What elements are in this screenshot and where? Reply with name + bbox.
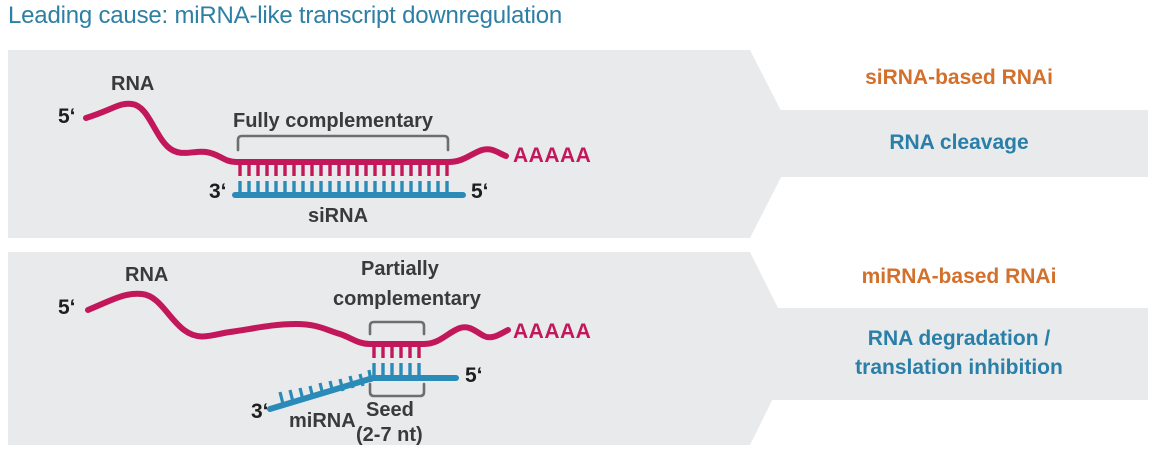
sirna-guide-5prime-label: 5‘ [471,180,489,204]
sirna-bracket-label: Fully complementary [233,110,433,133]
mirna-outcome-line-2: translation inhibition [855,354,1063,383]
mirna-outcome-box: RNA degradation / translation inhibition [770,308,1148,400]
sirna-outcome-box: RNA cleavage [770,110,1148,177]
mirna-diagram-panel: RNA 5‘ Partially complementary AAAAA 5‘ … [8,252,798,445]
mirna-guide-5prime-label: 5‘ [465,364,483,388]
mirna-outcome-text: RNA degradation / translation inhibition [855,325,1063,383]
mirna-category-label: miRNA-based RNAi [770,265,1148,289]
sirna-polya-label: AAAAA [513,144,591,168]
mirna-guide-3prime-label: 3‘ [251,400,269,424]
sirna-guide-label: siRNA [308,205,368,228]
mirna-polya-label: AAAAA [513,320,591,344]
seed-length-label: (2-7 nt) [356,424,423,447]
mirna-rna-5prime-label: 5‘ [58,296,76,320]
sirna-outcome-text: RNA cleavage [889,129,1028,158]
mirna-outcome-line-1: RNA degradation / [855,325,1063,354]
page-title: Leading cause: miRNA-like transcript dow… [8,2,562,30]
sirna-category-label: siRNA-based RNAi [770,66,1148,90]
sirna-guide-3prime-label: 3‘ [209,180,227,204]
mirna-bracket-label-line2: complementary [333,288,481,311]
sirna-diagram-panel: RNA 5‘ Fully complementary AAAAA 3‘ 5‘ s… [8,50,798,238]
mirna-rna-label: RNA [125,264,168,287]
mirna-guide-label: miRNA [289,410,356,433]
sirna-rna-5prime-label: 5‘ [58,105,76,129]
sirna-rna-label: RNA [111,73,154,96]
mirna-bracket-label-line1: Partially [361,258,439,281]
seed-label: Seed [366,399,414,422]
